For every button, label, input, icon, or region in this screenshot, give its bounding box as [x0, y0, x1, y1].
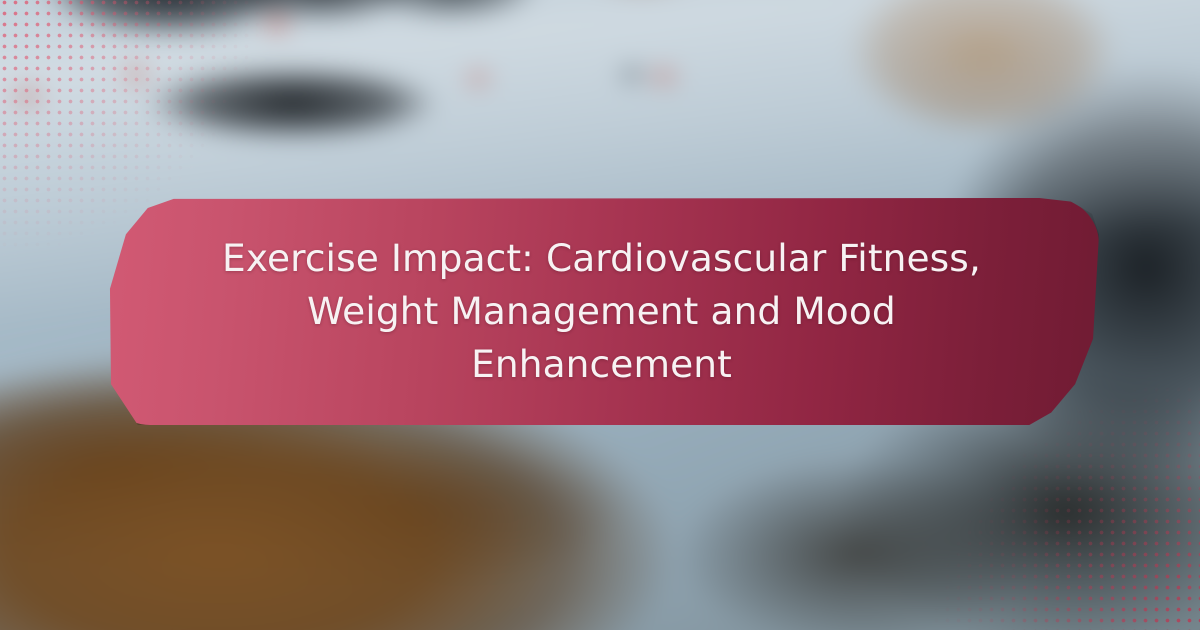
page-title: Exercise Impact: Cardiovascular Fitness,… [216, 232, 987, 392]
title-banner: Exercise Impact: Cardiovascular Fitness,… [104, 198, 1099, 425]
share-card-canvas: Exercise Impact: Cardiovascular Fitness,… [0, 0, 1200, 630]
